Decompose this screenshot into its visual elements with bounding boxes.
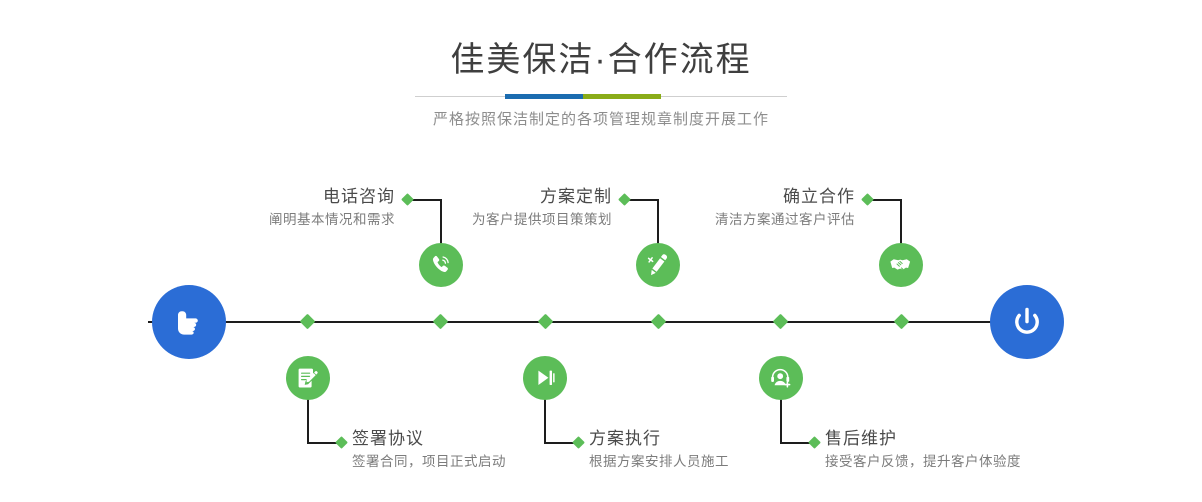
step-circle-execute[interactable] — [523, 356, 567, 400]
step-title: 售后维护 — [825, 428, 1190, 450]
phone-call-icon — [428, 252, 454, 278]
step-circle-support[interactable] — [759, 356, 803, 400]
connector-bottom-3-vertical — [780, 398, 782, 443]
connector-top-3-vertical — [900, 199, 902, 245]
flow-timeline: 电话咨询 阐明基本情况和需求 方案定制 为客户提供项目策策划 — [0, 0, 1202, 502]
connector-bottom-2-vertical — [544, 398, 546, 443]
step-circle-phone[interactable] — [419, 243, 463, 287]
step-circle-sign[interactable] — [286, 356, 330, 400]
pointing-hand-icon — [169, 302, 209, 342]
timeline-start-node[interactable] — [152, 285, 226, 359]
axis-node-6 — [894, 314, 910, 330]
timeline-axis — [148, 321, 1058, 323]
connector-top-3-diamond — [861, 193, 874, 206]
step-label-top-3: 确立合作 清洁方案通过客户评估 — [520, 186, 855, 230]
axis-node-1 — [300, 314, 316, 330]
flow-infographic: 佳美保洁·合作流程 严格按照保洁制定的各项管理规章制度开展工作 — [0, 0, 1202, 502]
step-label-bottom-3: 售后维护 接受客户反馈，提升客户体验度 — [825, 428, 1190, 472]
axis-node-5 — [773, 314, 789, 330]
power-icon — [1007, 302, 1047, 342]
axis-node-2 — [433, 314, 449, 330]
customer-support-icon — [768, 365, 794, 391]
step-circle-plan[interactable] — [636, 243, 680, 287]
handshake-icon — [888, 252, 914, 278]
step-desc: 接受客户反馈，提升客户体验度 — [825, 452, 1190, 472]
pencil-plan-icon — [645, 252, 671, 278]
axis-node-4 — [651, 314, 667, 330]
timeline-end-node[interactable] — [990, 285, 1064, 359]
step-desc: 清洁方案通过客户评估 — [520, 210, 855, 230]
execute-play-icon — [532, 365, 558, 391]
step-title: 确立合作 — [520, 186, 855, 208]
connector-bottom-1-vertical — [307, 398, 309, 443]
connector-bottom-1-diamond — [335, 436, 348, 449]
axis-node-3 — [538, 314, 554, 330]
step-circle-handshake[interactable] — [879, 243, 923, 287]
sign-document-icon — [295, 365, 321, 391]
